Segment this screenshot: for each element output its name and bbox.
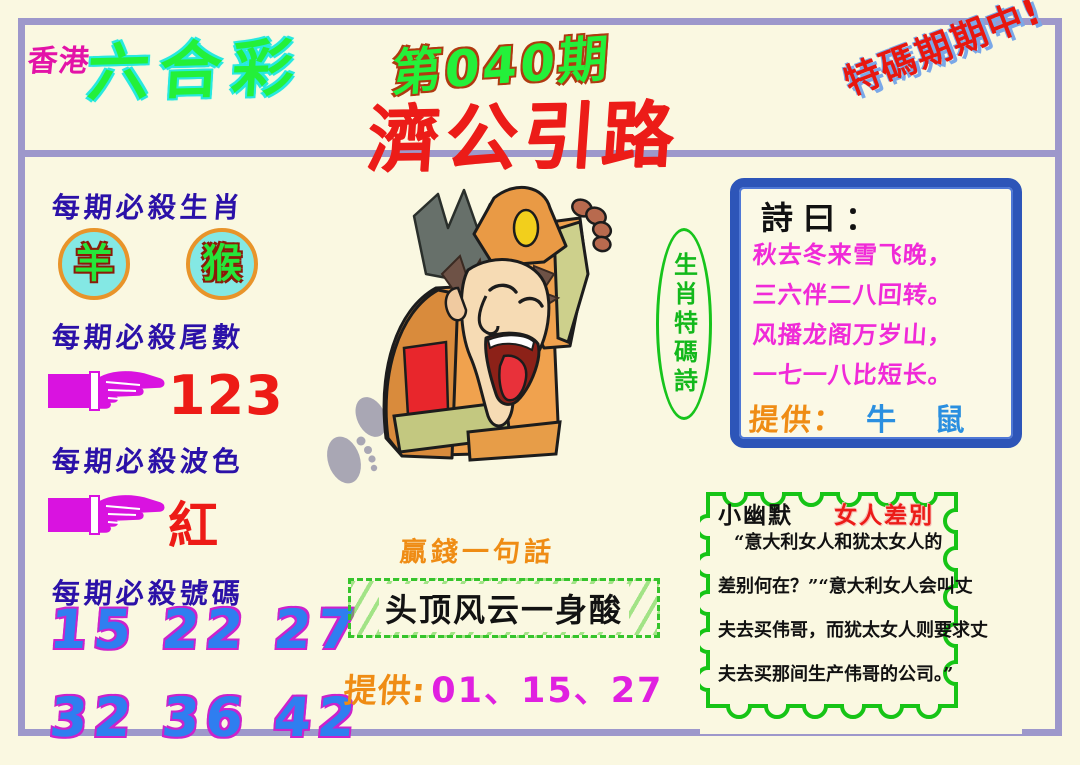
poem-credit-value: 牛 鼠 [866,395,978,439]
win-phrase-label: 贏錢一句話 [399,530,557,569]
joke-body: “意大利女人和犹太女人的 差别何在？”“意大利女人会叫丈 夫去买伟哥，而犹太女人… [718,534,1006,684]
center-supply-row: 提供: 01、15、27 [344,662,663,713]
poem-credit-label: 提供： [747,395,846,439]
joke-line-2: 差别何在？”“意大利女人会叫丈 [718,578,1006,596]
pointing-hand-icon [48,366,166,412]
joke-subtitle: 女人差別 [834,496,934,530]
tail-kill-label: 每期必殺尾數 [51,316,246,356]
poem-oval-label: 生肖特碼詩 [656,228,712,420]
wave-kill-value: 紅 [168,486,218,558]
win-phrase-box: 头顶风云一身酸 [348,578,660,638]
joke-panel: 小幽默 女人差別 “意大利女人和犹太女人的 差别何在？”“意大利女人会叫丈 夫去… [700,486,1022,734]
poster-page: 香港 六合彩 第040期 濟公引路 特碼期期中! 每期必殺生肖 羊 猴 每期必殺… [0,0,1080,765]
poem-line-4: 一七一八比短长。 [752,355,954,390]
zodiac-kill-circles: 羊 猴 [58,228,318,300]
poem-heading: 詩曰： [761,193,887,239]
pointing-hand-icon-2 [48,490,166,536]
zodiac-char-goat: 羊 [74,244,114,284]
zodiac-kill-label: 每期必殺生肖 [51,186,246,226]
joke-header: 小幽默 女人差別 [718,496,1006,530]
center-supply-label: 提供: [342,664,428,712]
joke-line-1: “意大利女人和犹太女人的 [718,534,1006,552]
win-phrase-text: 头顶风云一身酸 [379,584,629,632]
tail-kill-value: 123 [168,364,284,427]
center-supply-numbers: 01、15、27 [431,662,663,713]
poem-oval-text: 生肖特碼詩 [667,252,702,397]
poem-line-1: 秋去冬来雪飞晚， [752,235,954,270]
number-kill-row-1: 15 22 27 [47,598,364,661]
zodiac-circle-goat: 羊 [58,228,130,300]
joke-line-3: 夫去买伟哥，而犹太女人则要求丈 [718,622,1006,640]
region-label: 香港 [26,36,93,80]
joke-line-4: 夫去买那间生产伟哥的公司。” [718,666,1006,684]
poem-line-2: 三六伴二八回转。 [752,275,954,310]
wave-kill-label: 每期必殺波色 [51,440,246,480]
number-kill-row-2: 32 36 42 [47,686,364,749]
jigong-monk-illustration [318,170,648,490]
poem-credit-row: 提供： 牛 鼠 [749,395,979,439]
poem-line-3: 风播龙阁万岁山， [752,315,954,350]
joke-title: 小幽默 [718,496,793,530]
joke-content: 小幽默 女人差別 “意大利女人和犹太女人的 差别何在？”“意大利女人会叫丈 夫去… [718,496,1006,722]
lottery-name: 六合彩 [85,17,307,113]
zodiac-circle-monkey: 猴 [186,228,258,300]
poem-panel: 詩曰： 秋去冬来雪飞晚， 三六伴二八回转。 风播龙阁万岁山， 一七一八比短长。 … [730,178,1022,448]
zodiac-char-monkey: 猴 [202,244,242,284]
